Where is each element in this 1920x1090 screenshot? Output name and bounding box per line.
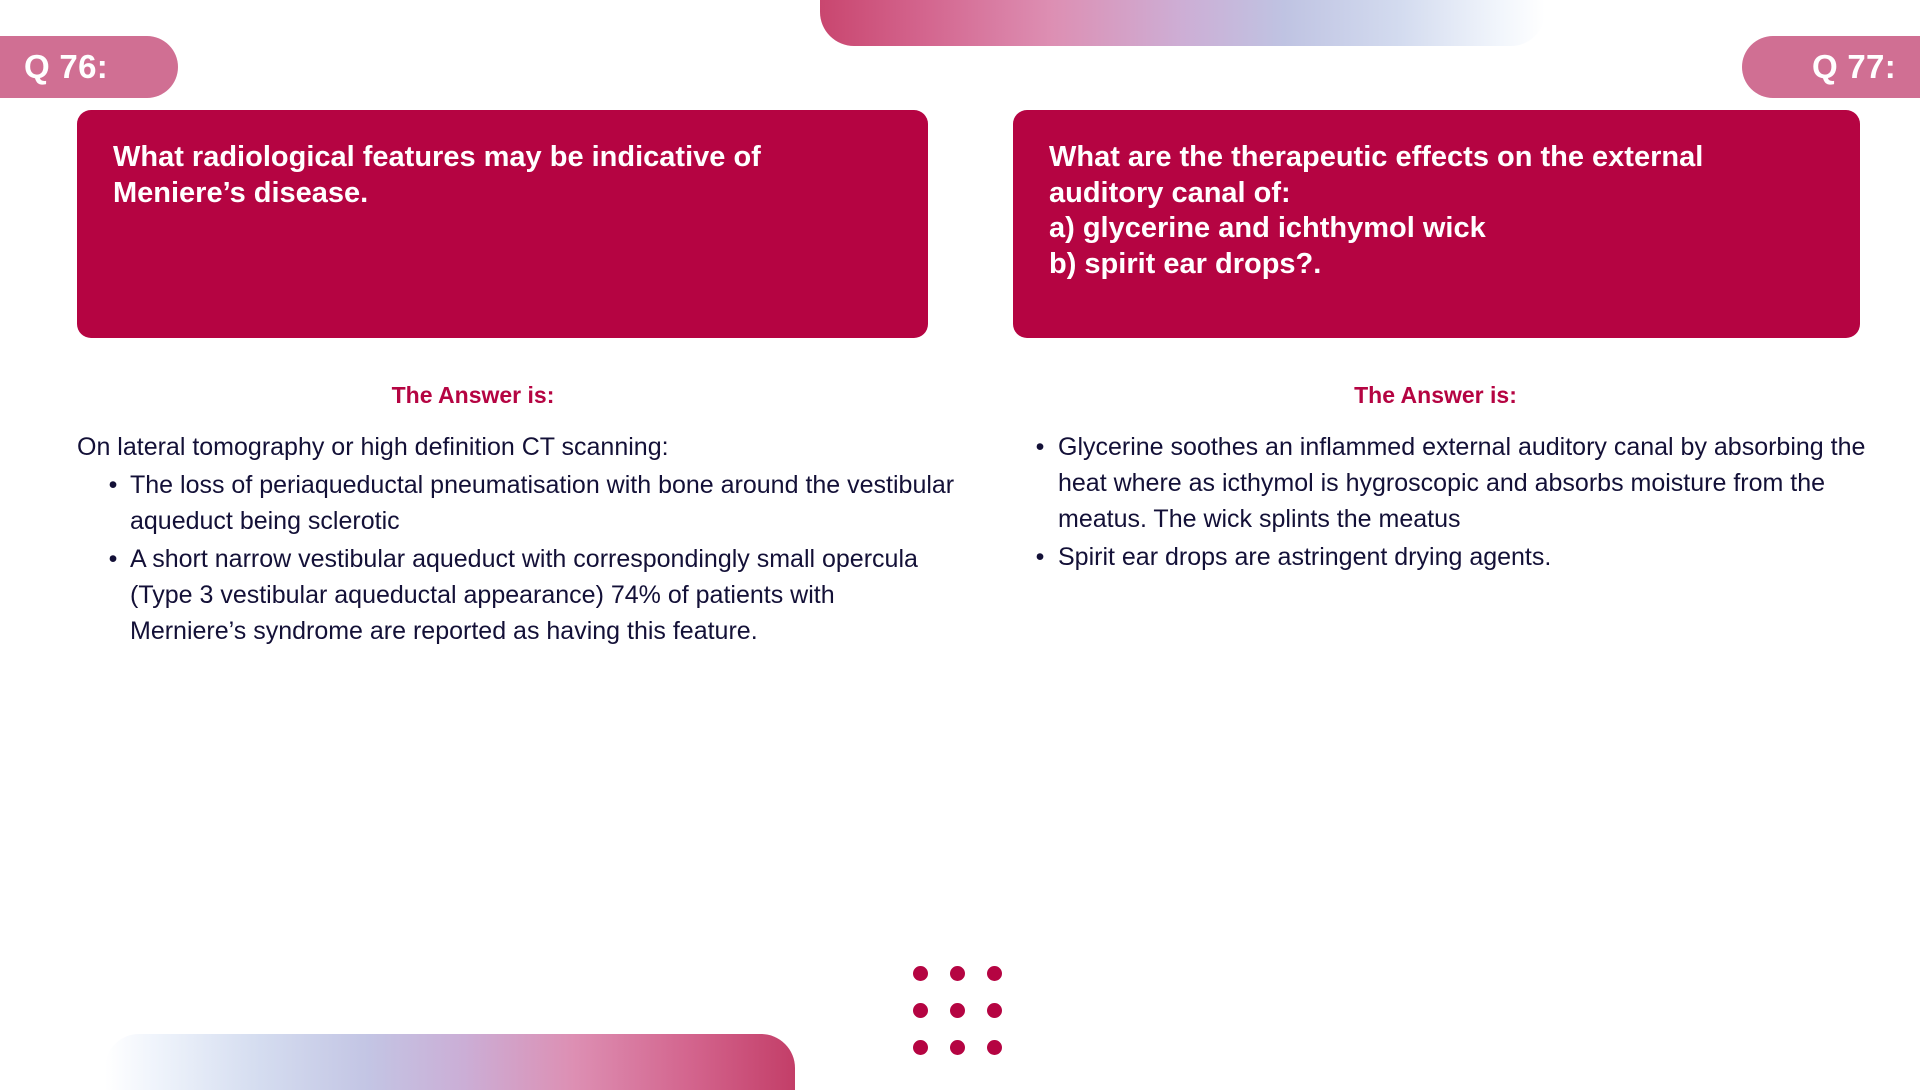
bullet-dot-icon: • [104,467,122,503]
dot [987,1003,1002,1018]
answer-bullet-item: •Glycerine soothes an inflammed external… [1028,429,1903,537]
question-card-q76: What radiological features may be indica… [77,110,928,338]
answer-bullet-text: A short narrow vestibular aqueduct with … [130,541,957,649]
answer-bullet-list: •The loss of periaqueductal pneumatisati… [77,467,957,649]
question-number-label: Q 77: [1812,48,1896,86]
answer-column-q77: The Answer is: •Glycerine soothes an inf… [1028,382,1903,577]
answer-intro-text: On lateral tomography or high definition… [77,429,957,465]
question-number-badge-q77: Q 77: [1742,36,1920,98]
answer-heading: The Answer is: [77,382,957,409]
dot [987,966,1002,981]
bottom-gradient-bar [105,1034,795,1090]
dot [913,1003,928,1018]
answer-bullet-text: Spirit ear drops are astringent drying a… [1058,539,1903,575]
question-card-q77: What are the therapeutic effects on the … [1013,110,1860,338]
dot [950,1040,965,1055]
question-text: What are the therapeutic effects on the … [1049,140,1824,283]
dot [913,1040,928,1055]
dot-grid-decoration [913,966,1024,1077]
answer-bullet-item: •The loss of periaqueductal pneumatisati… [77,467,957,539]
answer-bullet-item: •A short narrow vestibular aqueduct with… [77,541,957,649]
question-number-badge-q76: Q 76: [0,36,178,98]
top-gradient-bar [820,0,1545,46]
bullet-dot-icon: • [1031,539,1049,575]
answer-column-q76: The Answer is: On lateral tomography or … [77,382,957,651]
answer-bullet-item: •Spirit ear drops are astringent drying … [1028,539,1903,575]
question-text: What radiological features may be indica… [113,140,892,211]
answer-heading: The Answer is: [1028,382,1903,409]
dot [950,966,965,981]
dot [987,1040,1002,1055]
bullet-dot-icon: • [1031,429,1049,465]
dot [950,1003,965,1018]
bullet-dot-icon: • [104,541,122,577]
answer-bullet-text: Glycerine soothes an inflammed external … [1058,429,1903,537]
answer-bullet-list: •Glycerine soothes an inflammed external… [1028,429,1903,575]
question-number-label: Q 76: [24,48,108,86]
dot [913,966,928,981]
answer-bullet-text: The loss of periaqueductal pneumatisatio… [130,467,957,539]
